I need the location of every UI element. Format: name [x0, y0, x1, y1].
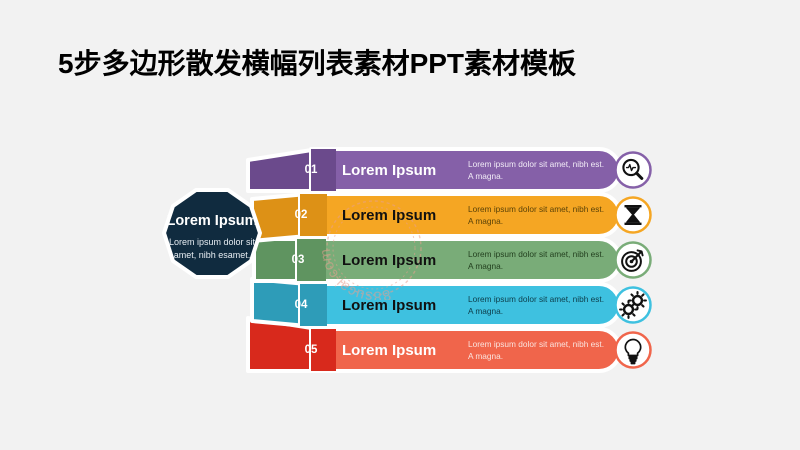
row-1-number: 01: [296, 164, 326, 176]
row-3-heading: Lorem Ipsum: [342, 252, 436, 269]
center-polygon-shape: [164, 190, 260, 277]
row-5-heading: Lorem Ipsum: [342, 342, 436, 359]
row-4-heading: Lorem Ipsum: [342, 297, 436, 314]
row-2-description: Lorem ipsum dolor sit amet, nibh est. A …: [468, 204, 608, 227]
row-4-number: 04: [286, 299, 316, 311]
row-5-description: Lorem ipsum dolor sit amet, nibh est. A …: [468, 339, 608, 362]
row-3-description: Lorem ipsum dolor sit amet, nibh est. A …: [468, 249, 608, 272]
center-polygon[interactable]: [164, 190, 260, 277]
slide-canvas: 5步多边形散发横幅列表素材PPT素材模板: [0, 0, 800, 450]
row-1-heading: Lorem Ipsum: [342, 162, 436, 179]
row-1-description: Lorem ipsum dolor sit amet, nibh est. A …: [468, 159, 608, 182]
row-2-number: 02: [286, 209, 316, 221]
row-5-number: 05: [296, 344, 326, 356]
infographic-diagram: [0, 0, 800, 450]
row-1-icon-badge: [616, 153, 651, 188]
row-4-description: Lorem ipsum dolor sit amet, nibh est. A …: [468, 294, 608, 317]
row-3-number: 03: [283, 254, 313, 266]
row-2-heading: Lorem Ipsum: [342, 207, 436, 224]
